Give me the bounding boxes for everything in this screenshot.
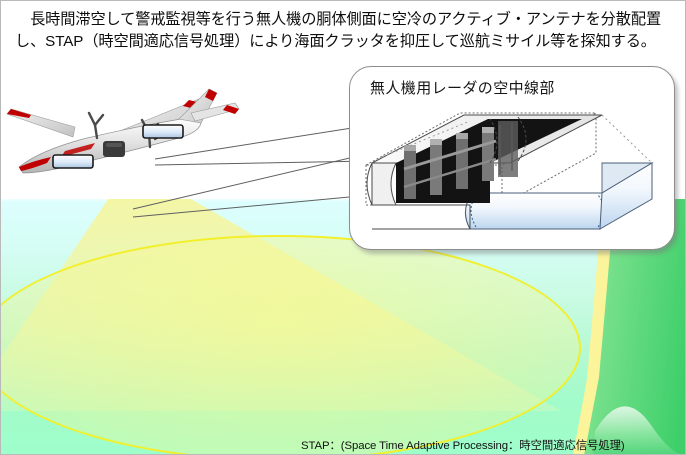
description-paragraph: 長時間滞空して警戒監視等を行う無人機の胴体側面に空冷のアクティブ・アンテナを分散… [15, 9, 663, 52]
callout-title: 無人機用レーダの空中線部 [370, 77, 555, 98]
radar-antenna-cutaway-illustration [352, 101, 672, 247]
unmanned-aerial-vehicle [3, 81, 253, 203]
stap-footnote: STAP：(Space Time Adaptive Processing：時空間… [301, 437, 625, 453]
antenna-panel-aft [143, 125, 183, 138]
detection-footprint-ellipse [1, 235, 581, 454]
diagram-canvas: 長時間滞空して警戒監視等を行う無人機の胴体側面に空冷のアクティブ・アンテナを分散… [0, 0, 686, 455]
radar-antenna-callout: 無人機用レーダの空中線部 [349, 66, 675, 250]
antenna-panel-forward [53, 155, 93, 168]
